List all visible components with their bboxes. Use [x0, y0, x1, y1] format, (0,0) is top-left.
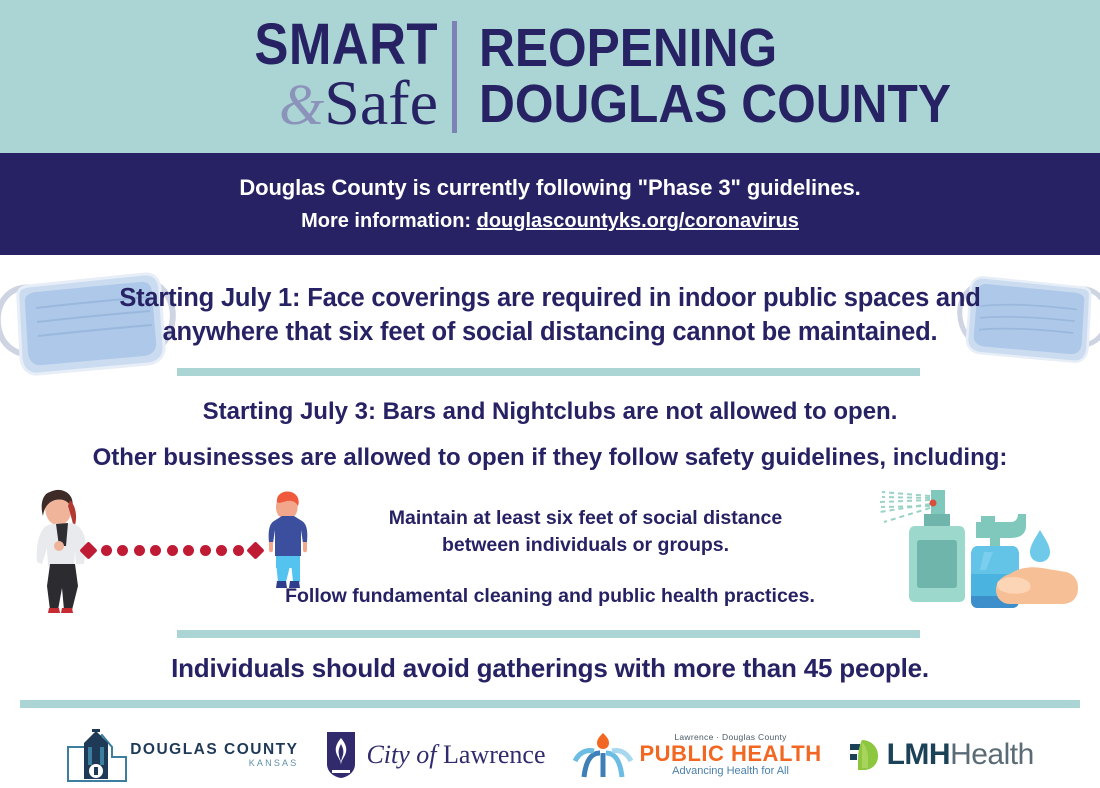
divider-bottom: [20, 700, 1080, 708]
more-information-line: More information: douglascountyks.org/co…: [301, 210, 799, 233]
smart-and-safe-logo: SMART &Safe: [108, 18, 452, 135]
lmh-health-label: Health: [950, 738, 1034, 771]
maintain-distance-line-1: Maintain at least six feet of social dis…: [318, 505, 853, 532]
partner-logo-row: DOUGLAS COUNTY KANSAS City of Lawrence: [0, 722, 1100, 788]
reopening-douglas-county-infographic: SMART &Safe REOPENING DOUGLAS COUNTY Dou…: [0, 0, 1100, 788]
distance-dot: [117, 545, 128, 556]
distance-dot: [101, 545, 112, 556]
public-health-wordmark: Lawrence · Douglas County PUBLIC HEALTH …: [640, 733, 822, 777]
city-of-lawrence-wordmark: City of Lawrence: [366, 740, 545, 770]
july-3-rule: Starting July 3: Bars and Nightclubs are…: [0, 398, 1100, 426]
douglas-county-logo: DOUGLAS COUNTY KANSAS: [66, 727, 298, 783]
public-health-logo: Lawrence · Douglas County PUBLIC HEALTH …: [572, 731, 822, 779]
city-of-label: City of: [366, 740, 436, 769]
maintain-distance-line-2: between individuals or groups.: [318, 532, 853, 559]
header-brand-lockup: SMART &Safe REOPENING DOUGLAS COUNTY: [0, 0, 1100, 153]
distance-dot: [134, 545, 145, 556]
brand-safe-word: Safe: [324, 67, 438, 138]
distance-marker-diamond-start: [79, 541, 97, 559]
divider-middle: [177, 630, 920, 638]
public-health-name: PUBLIC HEALTH: [640, 743, 822, 765]
social-distance-dots: [82, 540, 262, 560]
phase-status-band: Douglas County is currently following "P…: [0, 153, 1100, 255]
gatherings-limit-text: Individuals should avoid gatherings with…: [0, 653, 1100, 684]
phase-status-text: Douglas County is currently following "P…: [239, 175, 860, 201]
city-of-lawrence-logo: City of Lawrence: [324, 730, 545, 780]
other-businesses-rule: Other businesses are allowed to open if …: [0, 444, 1100, 472]
lmh-wordmark: LMHHealth: [887, 738, 1034, 772]
lmh-health-logo: LMHHealth: [848, 738, 1034, 772]
torch-shield-icon: [324, 730, 358, 780]
sanitizer-and-soap-icon: [860, 478, 1090, 623]
douglas-county-state: KANSAS: [130, 759, 298, 768]
douglas-county-name: DOUGLAS COUNTY: [130, 742, 298, 758]
face-covering-requirement: Starting July 1: Face coverings are requ…: [40, 282, 1060, 349]
coronavirus-website-link[interactable]: douglascountyks.org/coronavirus: [477, 210, 799, 232]
lmh-leaf-icon: [848, 738, 882, 772]
face-covering-line-2: anywhere that six feet of social distanc…: [40, 316, 1060, 350]
distance-dot: [233, 545, 244, 556]
distance-dot: [200, 545, 211, 556]
header-title-line-2: DOUGLAS COUNTY: [479, 77, 951, 132]
brand-safe-row: &Safe: [108, 71, 438, 135]
public-health-tagline: Advancing Health for All: [640, 766, 822, 777]
courthouse-icon: [66, 727, 128, 783]
maintain-distance-text: Maintain at least six feet of social dis…: [318, 505, 853, 559]
more-information-label: More information:: [301, 210, 477, 232]
lmh-abbreviation: LMH: [887, 738, 950, 771]
header-title: REOPENING DOUGLAS COUNTY: [457, 21, 992, 131]
distance-dot: [167, 545, 178, 556]
douglas-county-wordmark: DOUGLAS COUNTY KANSAS: [130, 742, 298, 769]
face-covering-line-1: Starting July 1: Face coverings are requ…: [40, 282, 1060, 316]
header-title-line-1: REOPENING: [479, 21, 951, 76]
distance-dot: [150, 545, 161, 556]
public-health-mark-icon: [572, 731, 634, 779]
man-standing-icon: [262, 490, 314, 600]
distance-dot: [216, 545, 227, 556]
distance-dot: [183, 545, 194, 556]
divider-top: [177, 368, 920, 376]
brand-ampersand: &: [279, 72, 324, 137]
cleaning-practices-text: Follow fundamental cleaning and public h…: [230, 585, 870, 608]
lawrence-label: Lawrence: [443, 740, 545, 769]
brand-smart-word: SMART: [148, 18, 438, 71]
